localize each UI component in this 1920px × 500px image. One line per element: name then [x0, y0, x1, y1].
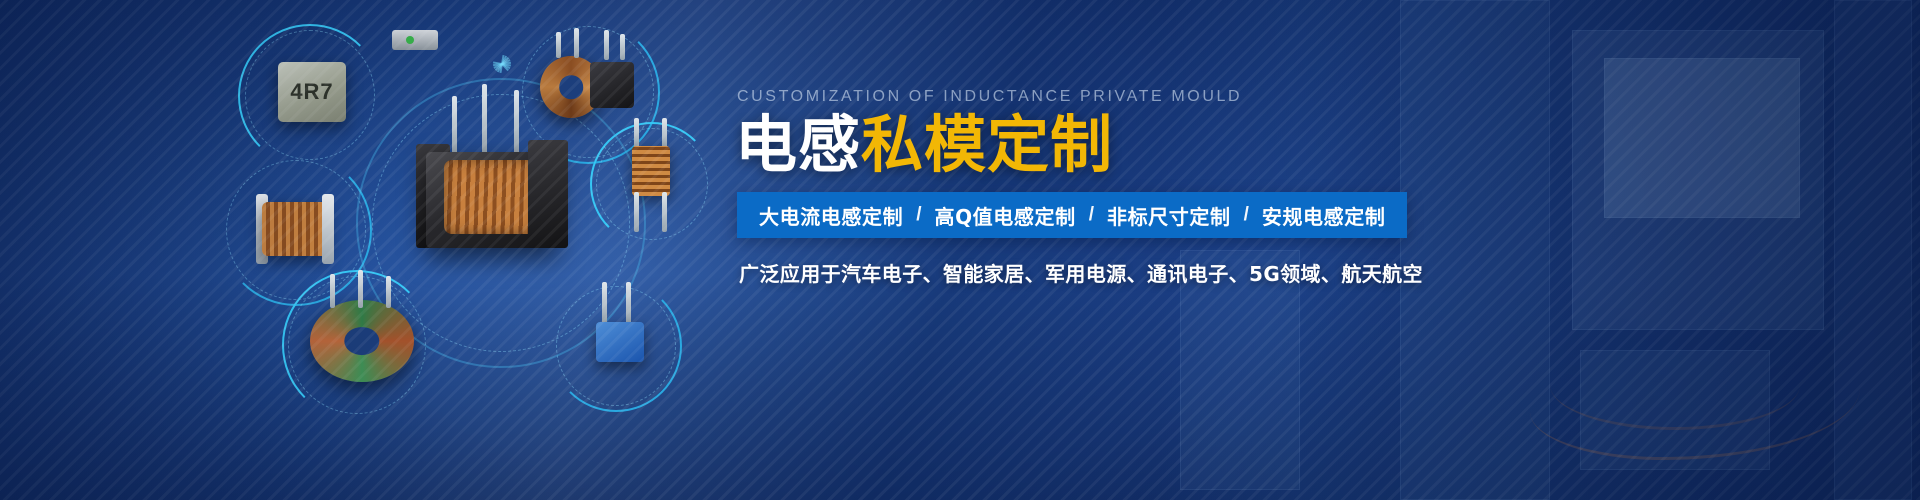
product-common-mode-choke: [398, 100, 588, 265]
product-showcase: 4R7: [0, 0, 720, 500]
promo-banner: 4R7: [0, 0, 1920, 500]
service-list-bar: 大电流电感定制 / 高Q值电感定制 / 非标尺寸定制 / 安规电感定制: [737, 192, 1407, 238]
product-toroid-green: [310, 300, 414, 382]
headline-accent: 私模定制: [861, 108, 1113, 181]
service-item-0: 大电流电感定制: [759, 201, 903, 230]
service-separator: /: [1244, 204, 1249, 226]
service-item-1: 高Q值电感定制: [934, 201, 1075, 230]
product-axial-choke: [618, 140, 684, 236]
banner-headline: 电感私模定制: [735, 110, 1113, 180]
product-blue-component: [578, 308, 652, 380]
banner-tagline: 广泛应用于汽车电子、智能家居、军用电源、通讯电子、5G领域、航天航空: [739, 258, 1423, 287]
product-small-component: [392, 30, 438, 50]
product-drum-core-inductor: [252, 190, 338, 268]
machine-edge: [1834, 0, 1912, 500]
service-separator: /: [1089, 204, 1094, 226]
service-item-2: 非标尺寸定制: [1107, 201, 1231, 230]
headline-primary: 电感: [735, 108, 861, 181]
service-separator: /: [916, 204, 921, 226]
banner-content: CUSTOMIZATION OF INDUCTANCE PRIVATE MOUL…: [737, 0, 1837, 500]
service-item-3: 安规电感定制: [1262, 201, 1386, 230]
smd-chip-code: 4R7: [290, 79, 333, 105]
product-smd-inductor: 4R7: [278, 62, 346, 122]
banner-eyebrow-text: CUSTOMIZATION OF INDUCTANCE PRIVATE MOUL…: [737, 88, 1242, 106]
